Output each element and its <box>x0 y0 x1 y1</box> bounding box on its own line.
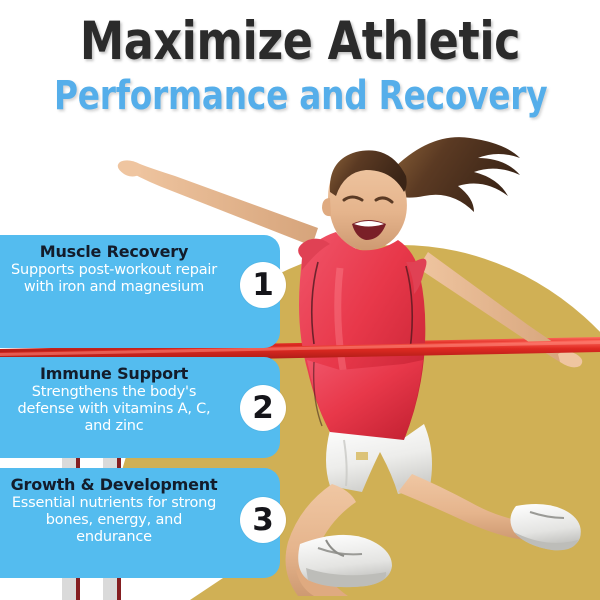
infographic-poster: Maximize Athletic Performance and Recove… <box>0 0 600 600</box>
athlete-left-arm <box>130 164 318 246</box>
benefit-card-2[interactable]: Immune Support Strengthens the body's de… <box>0 357 280 458</box>
benefit-card-2-body: Strengthens the body's defense with vita… <box>8 384 220 435</box>
benefit-card-3-heading: Growth & Development <box>8 476 220 494</box>
benefit-card-1-heading: Muscle Recovery <box>8 243 220 261</box>
benefit-card-3[interactable]: Growth & Development Essential nutrients… <box>0 468 280 578</box>
athlete-ponytail <box>392 137 520 212</box>
athlete-ear <box>322 198 331 216</box>
benefit-badge-3: 3 <box>240 497 286 543</box>
benefit-badge-2: 2 <box>240 385 286 431</box>
benefit-card-3-body: Essential nutrients for strong bones, en… <box>8 495 220 546</box>
athlete-left-hand <box>118 160 141 176</box>
benefit-badge-1: 1 <box>240 262 286 308</box>
benefit-card-1[interactable]: Muscle Recovery Supports post-workout re… <box>0 235 280 348</box>
benefit-card-2-heading: Immune Support <box>8 365 220 383</box>
benefit-card-1-body: Supports post-workout repair with iron a… <box>8 262 220 296</box>
athlete-shorts-logo <box>356 452 368 460</box>
